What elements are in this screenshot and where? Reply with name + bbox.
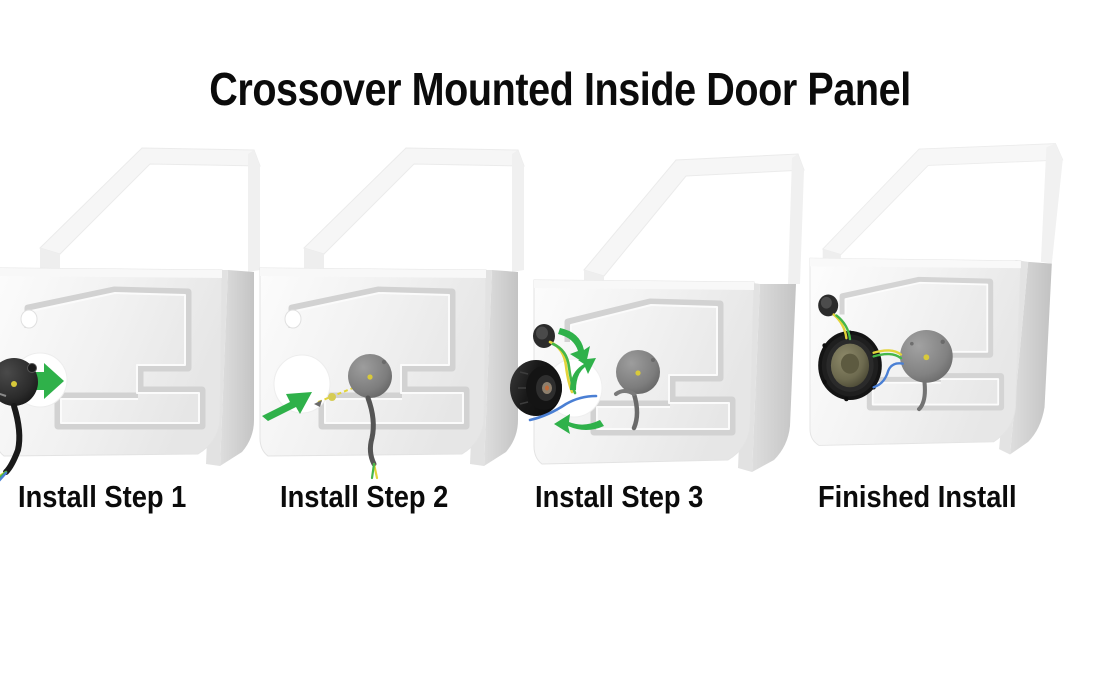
crossover-module <box>900 330 953 383</box>
caption-install-step-2: Install Step 2 <box>280 478 448 516</box>
tweeter <box>818 295 838 317</box>
page-title: Crossover Mounted Inside Door Panel <box>78 65 1041 113</box>
speaker-assembly <box>510 360 562 416</box>
panel-access-hole <box>285 310 301 328</box>
caption-finished-install: Finished Install <box>818 478 1017 516</box>
panel-access-hole <box>21 310 37 328</box>
caption-install-step-1: Install Step 1 <box>18 478 186 516</box>
caption-install-step-3: Install Step 3 <box>535 478 703 516</box>
crossover-module <box>348 354 392 398</box>
figure-install-step-1 <box>0 120 292 480</box>
window-frame <box>823 144 1063 268</box>
window-frame <box>584 154 804 290</box>
tweeter <box>533 324 555 348</box>
window-frame <box>304 148 524 272</box>
figure-captions: Install Step 1 Install Step 2 Install St… <box>0 478 1120 520</box>
figure-strip <box>0 120 1120 480</box>
crossover-module <box>616 350 660 394</box>
installation-diagram-page: Crossover Mounted Inside Door Panel <box>0 0 1120 700</box>
window-frame <box>40 148 260 272</box>
figure-install-step-3 <box>508 120 808 480</box>
figure-finished-install <box>790 120 1090 480</box>
